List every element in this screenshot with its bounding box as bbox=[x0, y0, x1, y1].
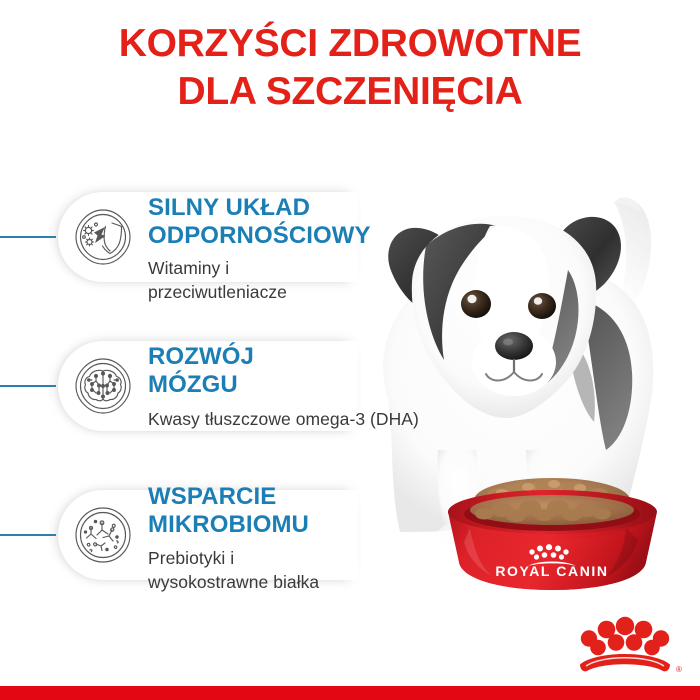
microbiome-bacteria-icon bbox=[72, 504, 134, 566]
trademark-symbol: ® bbox=[676, 665, 682, 674]
bottom-red-bar bbox=[0, 686, 700, 700]
benefit-subtext-brain: Kwasy tłuszczowe omega-3 (DHA) bbox=[148, 407, 419, 431]
benefit-heading-microbiome: WSPARCIE MIKROBIOMU bbox=[148, 483, 319, 539]
page-title-line-1: KORZYŚCI ZDROWOTNE bbox=[0, 20, 700, 68]
benefit-text-immunity: SILNY UKŁAD ODPORNOŚCIOWY Witaminy i prz… bbox=[148, 194, 371, 304]
page-title: KORZYŚCI ZDROWOTNE DLA SZCZENIĘCIA bbox=[0, 20, 700, 116]
immunity-shield-icon bbox=[72, 206, 134, 268]
connector-line-1 bbox=[0, 236, 56, 238]
connector-line-2 bbox=[0, 385, 56, 387]
benefit-heading-immunity: SILNY UKŁAD ODPORNOŚCIOWY bbox=[148, 194, 371, 250]
page-title-line-2: DLA SZCZENIĘCIA bbox=[0, 68, 700, 116]
benefit-subtext-immunity: Witaminy i przeciwutleniacze bbox=[148, 256, 371, 304]
dog-bowl: ROYAL CANIN bbox=[440, 470, 665, 595]
royal-canin-crown-icon: ® bbox=[566, 612, 684, 678]
benefit-text-microbiome: WSPARCIE MIKROBIOMU Prebiotyki i wysokos… bbox=[148, 483, 319, 594]
connector-line-3 bbox=[0, 534, 56, 536]
benefit-subtext-microbiome: Prebiotyki i wysokostrawne białka bbox=[148, 546, 319, 594]
benefit-heading-brain: ROZWÓJ MÓZGU bbox=[148, 343, 419, 399]
promo-banner: KORZYŚCI ZDROWOTNE DLA SZCZENIĘCIA bbox=[0, 0, 700, 700]
brain-icon bbox=[72, 355, 134, 417]
benefit-text-brain: ROZWÓJ MÓZGU Kwasy tłuszczowe omega-3 (D… bbox=[148, 343, 419, 431]
bowl-wordmark: ROYAL CANIN bbox=[495, 563, 608, 579]
